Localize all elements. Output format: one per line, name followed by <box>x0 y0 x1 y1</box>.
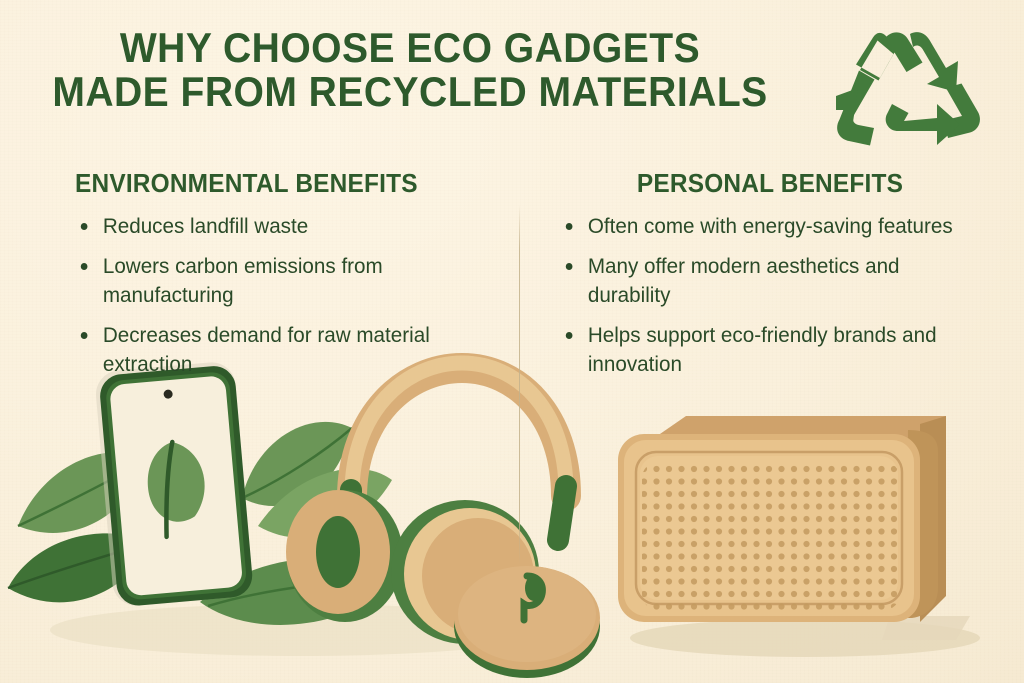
list-item-label: Often come with energy-saving features <box>588 214 953 238</box>
bullet-dot-icon <box>81 223 88 230</box>
page-title: WHY CHOOSE ECO GADGETS MADE FROM RECYCLE… <box>0 26 820 114</box>
list-item-label: Helps support eco-friendly brands and in… <box>588 323 937 376</box>
list-item-label: Reduces landfill waste <box>103 214 308 238</box>
left-benefits-list: Reduces landfill waste Lowers carbon emi… <box>75 212 495 379</box>
computer-mouse-icon <box>454 566 600 678</box>
bullet-dot-icon <box>81 263 88 270</box>
bullet-dot-icon <box>81 332 88 339</box>
list-item-label: Decreases demand for raw material extrac… <box>103 323 430 376</box>
bullet-dot-icon <box>566 332 573 339</box>
personal-benefits-column: PERSONAL BENEFITS Often come with energy… <box>560 168 980 390</box>
title-line-1: WHY CHOOSE ECO GADGETS <box>29 26 792 70</box>
list-item: Lowers carbon emissions from manufacturi… <box>75 252 478 310</box>
list-item: Reduces landfill waste <box>75 212 478 241</box>
environmental-benefits-column: ENVIRONMENTAL BENEFITS Reduces landfill … <box>75 168 495 390</box>
bluetooth-speaker-illustration <box>590 390 1010 683</box>
list-item: Decreases demand for raw material extrac… <box>75 321 478 379</box>
right-column-heading: PERSONAL BENEFITS <box>573 168 968 198</box>
list-item-label: Many offer modern aesthetics and durabil… <box>588 254 900 307</box>
recycle-icon <box>822 26 998 154</box>
right-benefits-list: Often come with energy-saving features M… <box>560 212 980 379</box>
list-item: Helps support eco-friendly brands and in… <box>560 321 963 379</box>
bullet-dot-icon <box>566 263 573 270</box>
smartphone-icon <box>94 360 254 607</box>
title-line-2: MADE FROM RECYCLED MATERIALS <box>29 70 792 114</box>
infographic-poster: WHY CHOOSE ECO GADGETS MADE FROM RECYCLE… <box>0 0 1024 683</box>
bullet-dot-icon <box>566 223 573 230</box>
list-item-label: Lowers carbon emissions from manufacturi… <box>103 254 383 307</box>
column-divider <box>519 205 520 565</box>
list-item: Often come with energy-saving features <box>560 212 963 241</box>
list-item: Many offer modern aesthetics and durabil… <box>560 252 963 310</box>
left-column-heading: ENVIRONMENTAL BENEFITS <box>75 168 470 198</box>
